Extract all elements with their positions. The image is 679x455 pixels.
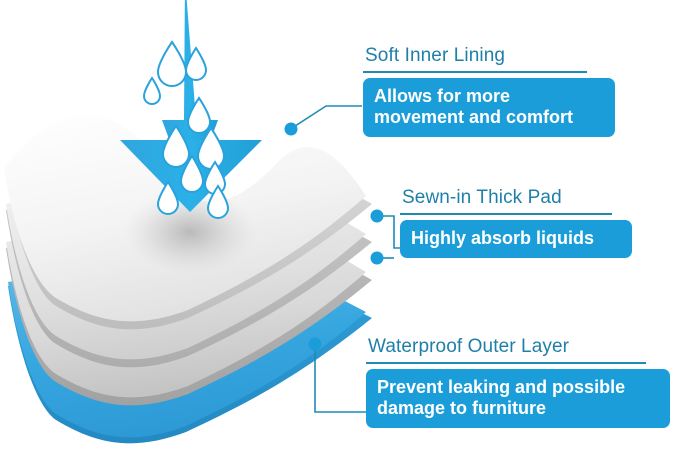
callout-sewn-in-thick-pad: Sewn-in Thick Pad Highly absorb liquids [400,188,632,258]
callout-body-soft-inner-lining: Allows for more movement and comfort [363,78,615,137]
connector-dot-soft-inner-lining [285,123,298,136]
callout-underline-sewn-in-thick-pad [400,213,612,215]
callout-heading-sewn-in-thick-pad: Sewn-in Thick Pad [400,188,632,209]
infographic-canvas: Soft Inner Lining Allows for more moveme… [0,0,679,455]
callout-body-sewn-in-thick-pad: Highly absorb liquids [400,220,632,258]
connector-line-soft-inner-lining [292,106,362,128]
callout-heading-soft-inner-lining: Soft Inner Lining [363,46,615,67]
callout-heading-waterproof-outer-layer: Waterproof Outer Layer [366,337,670,358]
connector-dot-thick-pad-lower [371,252,384,265]
callout-body-waterproof-outer-layer: Prevent leaking and possible damage to f… [366,369,670,428]
connector-dot-waterproof-outer [309,338,322,351]
callout-soft-inner-lining: Soft Inner Lining Allows for more moveme… [363,46,615,137]
callout-waterproof-outer-layer: Waterproof Outer Layer Prevent leaking a… [366,337,670,428]
connector-dot-thick-pad-upper [371,210,384,223]
callout-underline-waterproof-outer-layer [366,362,646,364]
callout-underline-soft-inner-lining [363,71,587,73]
